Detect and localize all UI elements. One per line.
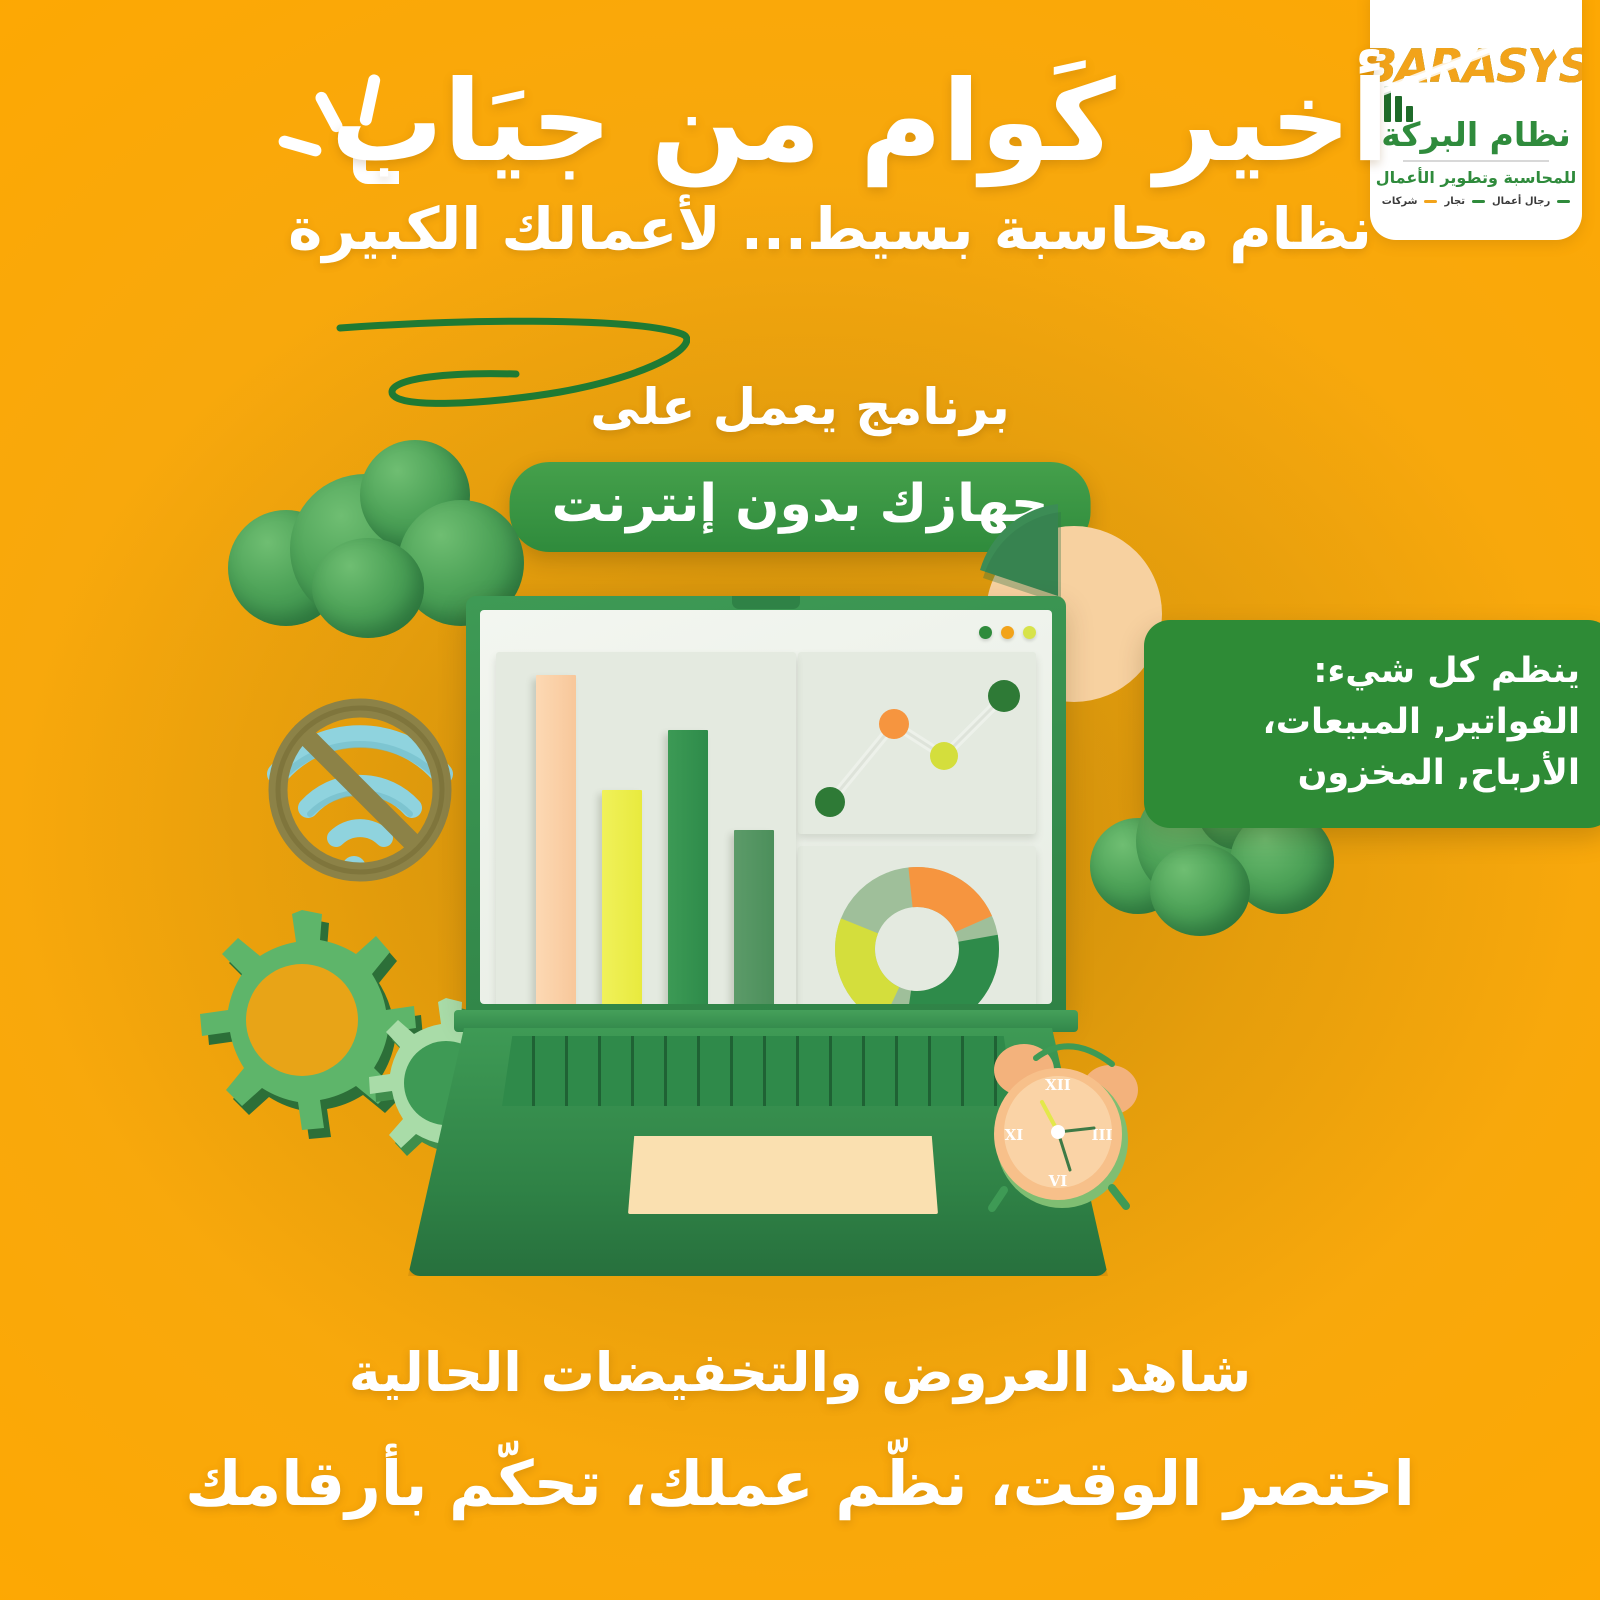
window-dots <box>979 626 1036 639</box>
laptop-lid <box>466 596 1066 1014</box>
mid-tagline: برنامج يعمل على <box>0 378 1600 436</box>
line-chart-card <box>798 652 1036 834</box>
trackpad <box>628 1136 938 1214</box>
keyboard <box>502 1036 1014 1106</box>
laptop-notch <box>732 596 800 609</box>
footer-line-1: شاهد العروض والتخفيضات الحالية <box>0 1341 1600 1404</box>
svg-text:XI: XI <box>1005 1126 1024 1144</box>
bar-1 <box>668 730 708 1004</box>
features-callout: ينظم كل شيء: الفواتير, المبيعات، الأرباح… <box>1144 620 1600 828</box>
footer-line-2: اختصر الوقت، نظّم عملك، تحكّم بأرقامك <box>0 1447 1600 1520</box>
svg-text:VI: VI <box>1048 1172 1068 1190</box>
bar-3 <box>536 675 576 1004</box>
bar-chart-card <box>496 652 796 1004</box>
donut-chart-card <box>798 846 1036 1004</box>
dashboard-screen <box>480 610 1052 1004</box>
alarm-clock-icon: XII III VI XI <box>978 1028 1150 1214</box>
page-subtitle: نظام محاسبة بسيط... لأعمالك الكبيرة <box>0 195 1600 263</box>
bar-2 <box>602 790 642 1004</box>
page-title: أخير كَوام من جيَاب <box>0 62 1600 183</box>
poster-canvas: BARASYS BARASYS نظام البركة للمحاسبة وتط… <box>0 0 1600 1600</box>
svg-text:XII: XII <box>1045 1076 1071 1094</box>
bar-0 <box>734 830 774 1004</box>
hero-text-block: أخير كَوام من جيَاب نظام محاسبة بسيط... … <box>0 62 1600 263</box>
